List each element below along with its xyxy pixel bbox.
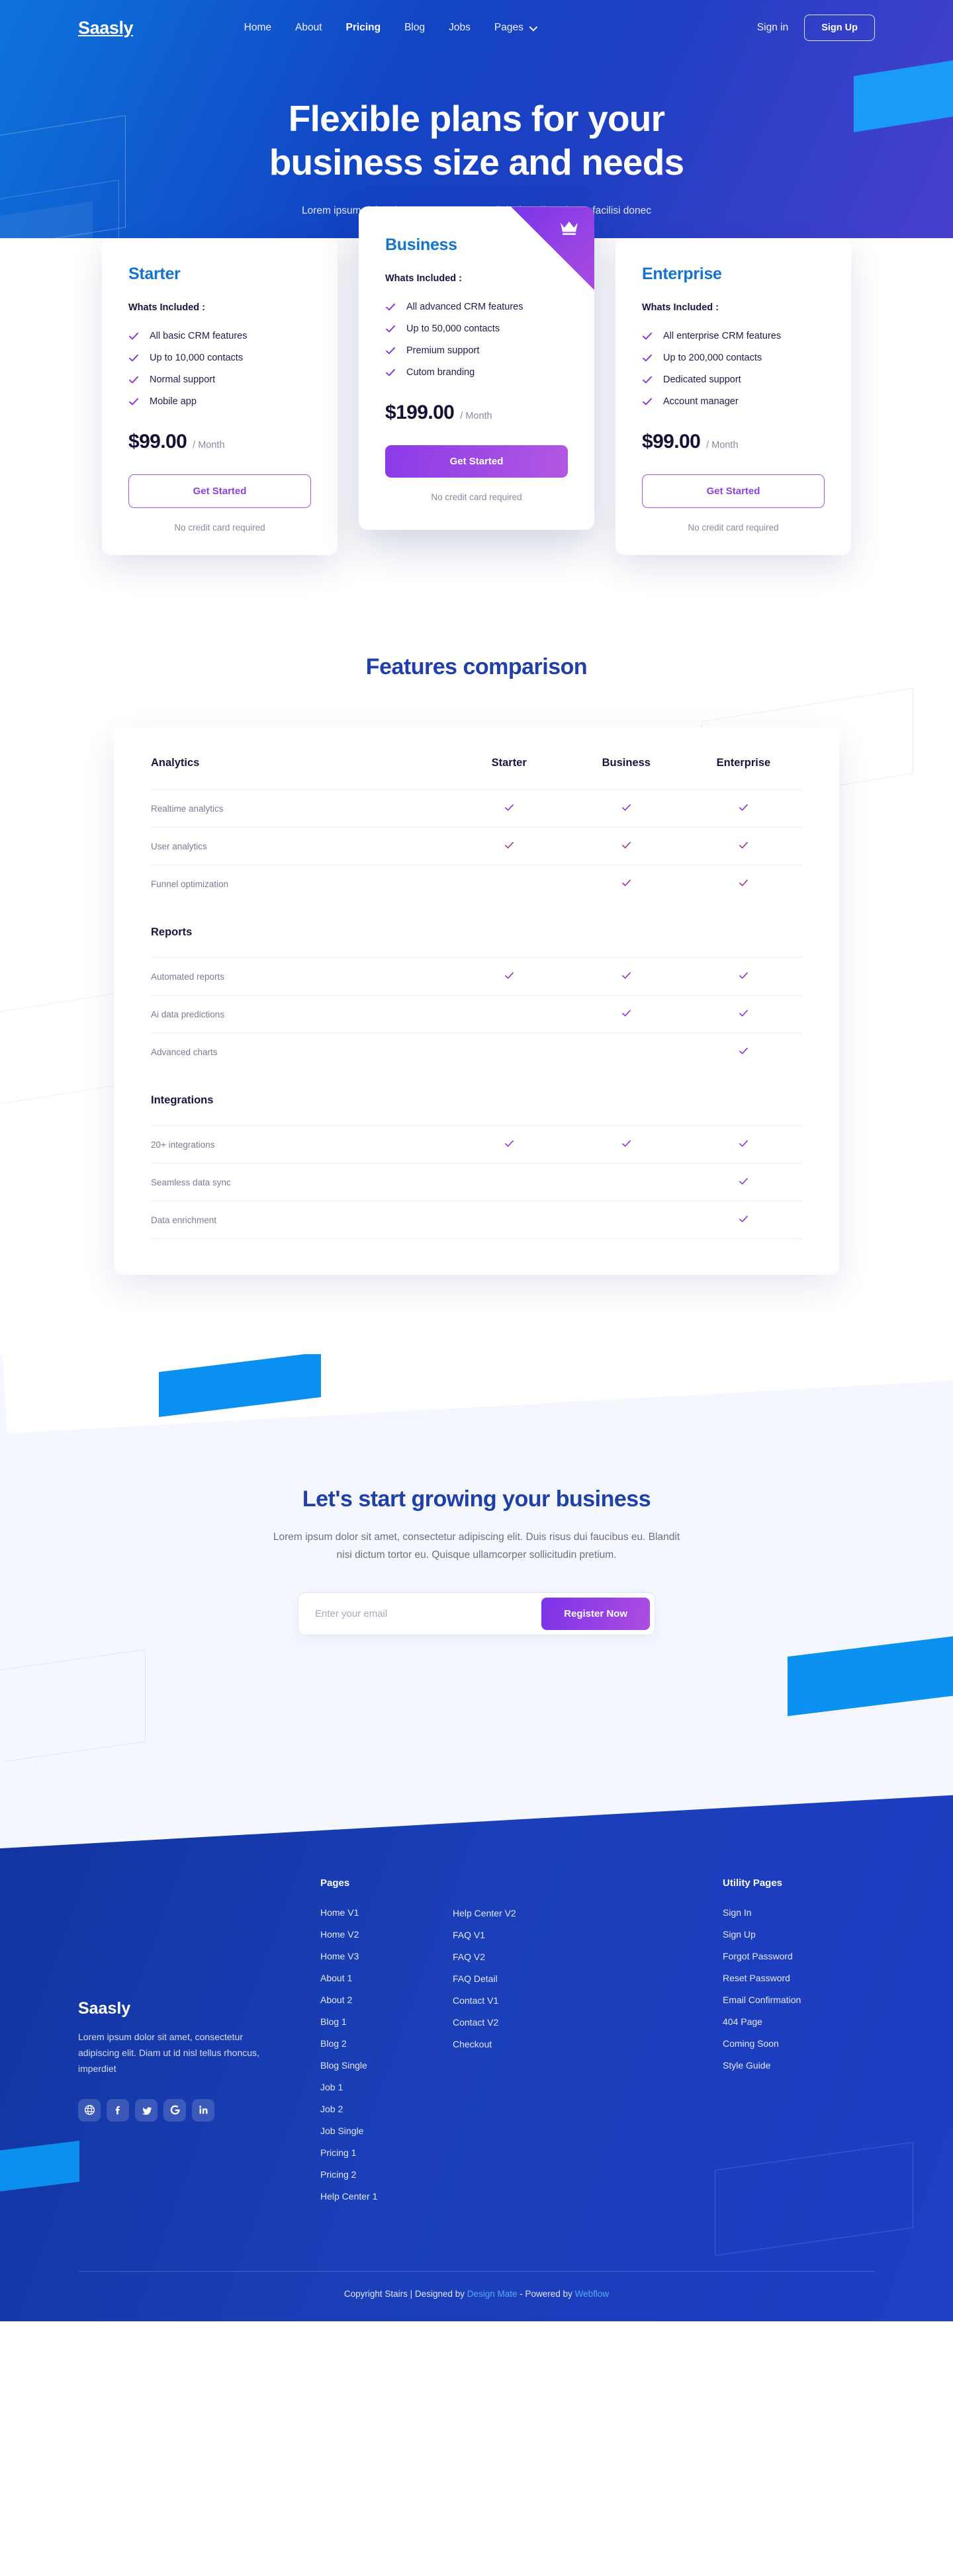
- footer-link[interactable]: Style Guide: [723, 2055, 875, 2077]
- footer-link[interactable]: Job 2: [320, 2098, 453, 2120]
- nav-item-about[interactable]: About: [295, 22, 322, 34]
- table-row: Advanced charts: [151, 1033, 802, 1071]
- list-item: Premium support: [385, 339, 568, 361]
- comparison-table-card: Analytics Starter Business Enterprise Re…: [114, 728, 839, 1275]
- list-item: Up to 10,000 contacts: [128, 347, 311, 368]
- check-icon: [621, 802, 631, 812]
- copyright-prefix: Copyright Stairs | Designed by: [344, 2289, 467, 2299]
- footer-link[interactable]: About 1: [320, 1967, 453, 1989]
- footer-link[interactable]: Job Single: [320, 2120, 453, 2142]
- footer-link[interactable]: Home V2: [320, 1924, 453, 1946]
- cell-business: [568, 1164, 685, 1201]
- cell-enterprise: [685, 996, 802, 1033]
- feature-name: Funnel optimization: [151, 865, 451, 903]
- footer-link[interactable]: Help Center V2: [453, 1903, 605, 1924]
- cell-starter: [451, 790, 568, 828]
- footer-link[interactable]: About 2: [320, 1989, 453, 2011]
- section-title-growth: Let's start growing your business: [0, 1486, 953, 1512]
- plan-feature-list: All basic CRM features Up to 10,000 cont…: [128, 325, 311, 412]
- comparison-table: Analytics Starter Business Enterprise Re…: [151, 757, 802, 1239]
- feature-label: Dedicated support: [663, 374, 741, 385]
- column-header-business: Business: [568, 757, 685, 790]
- cell-business: [568, 1126, 685, 1164]
- table-row: Ai data predictions: [151, 996, 802, 1033]
- check-icon: [642, 353, 653, 363]
- footer-link[interactable]: Pricing 2: [320, 2164, 453, 2186]
- globe-icon[interactable]: [78, 2099, 101, 2122]
- cell-enterprise: [685, 828, 802, 865]
- get-started-button[interactable]: Get Started: [128, 474, 311, 508]
- feature-name: Seamless data sync: [151, 1164, 451, 1201]
- group-label: Integrations: [151, 1070, 802, 1126]
- feature-name: Data enrichment: [151, 1201, 451, 1239]
- check-icon: [385, 323, 396, 334]
- feature-name: Advanced charts: [151, 1033, 451, 1071]
- cell-starter: [451, 996, 568, 1033]
- feature-label: All basic CRM features: [150, 331, 247, 341]
- footer-link[interactable]: Coming Soon: [723, 2033, 875, 2055]
- table-row: User analytics: [151, 828, 802, 865]
- check-icon: [642, 331, 653, 341]
- table-row: Realtime analytics: [151, 790, 802, 828]
- list-item: Normal support: [128, 368, 311, 390]
- plan-price: $99.00: [128, 431, 187, 453]
- footer-link[interactable]: Reset Password: [723, 1967, 875, 1989]
- register-now-button[interactable]: Register Now: [541, 1598, 650, 1630]
- google-icon[interactable]: [163, 2099, 186, 2122]
- included-label: Whats Included :: [642, 302, 825, 313]
- no-credit-card-note: No credit card required: [385, 492, 568, 502]
- footer-link[interactable]: FAQ V1: [453, 1924, 605, 1946]
- table-group-header-reports: Reports: [151, 902, 802, 958]
- check-icon: [739, 970, 749, 980]
- plan-name: Starter: [128, 265, 311, 284]
- check-icon: [642, 396, 653, 407]
- footer-column-pages-2: Help Center V2 FAQ V1 FAQ V2 FAQ Detail …: [453, 1873, 605, 2055]
- cell-business: [568, 1201, 685, 1239]
- sign-in-link[interactable]: Sign in: [757, 22, 788, 34]
- list-item: Up to 200,000 contacts: [642, 347, 825, 368]
- feature-label: Mobile app: [150, 396, 197, 407]
- chevron-down-icon: [529, 22, 537, 31]
- linkedin-icon[interactable]: [192, 2099, 214, 2122]
- growth-cta-content: Let's start growing your business Lorem …: [0, 1354, 953, 1760]
- pricing-page: Saasly Home About Pricing Blog Jobs Page…: [0, 0, 953, 2321]
- check-icon: [739, 1008, 749, 1018]
- included-label: Whats Included :: [128, 302, 311, 313]
- check-icon: [385, 345, 396, 356]
- plan-name: Enterprise: [642, 265, 825, 284]
- footer-link[interactable]: Contact V2: [453, 2012, 605, 2034]
- cell-business: [568, 1033, 685, 1071]
- plan-feature-list: All enterprise CRM features Up to 200,00…: [642, 325, 825, 412]
- facebook-icon[interactable]: [107, 2099, 129, 2122]
- check-icon: [128, 353, 139, 363]
- cell-enterprise: [685, 790, 802, 828]
- footer-link[interactable]: FAQ V2: [453, 1946, 605, 1968]
- pricing-card-enterprise: Enterprise Whats Included : All enterpri…: [615, 238, 851, 555]
- table-row: 20+ integrations: [151, 1126, 802, 1164]
- plan-price-row: $199.00 / Month: [385, 402, 568, 424]
- decorative-outline-shape: [0, 992, 126, 1119]
- feature-name: Realtime analytics: [151, 790, 451, 828]
- subscribe-form: Register Now: [298, 1592, 655, 1635]
- footer-link[interactable]: Sign Up: [723, 1924, 875, 1946]
- plan-feature-list: All advanced CRM features Up to 50,000 c…: [385, 296, 568, 383]
- feature-name: 20+ integrations: [151, 1126, 451, 1164]
- section-title-comparison: Features comparison: [0, 612, 953, 680]
- pricing-cards: Starter Whats Included : All basic CRM f…: [93, 238, 860, 612]
- cell-starter: [451, 1033, 568, 1071]
- platform-link[interactable]: Webflow: [575, 2289, 610, 2299]
- growth-cta-section: Let's start growing your business Lorem …: [0, 1354, 953, 1760]
- no-credit-card-note: No credit card required: [642, 523, 825, 533]
- footer-heading-pages: Pages: [320, 1877, 453, 1889]
- plan-price-row: $99.00 / Month: [128, 431, 311, 453]
- sign-up-button[interactable]: Sign Up: [804, 15, 875, 41]
- pricing-card-business: Business Whats Included : All advanced C…: [359, 206, 594, 530]
- check-icon: [128, 374, 139, 385]
- cell-starter: [451, 865, 568, 903]
- plan-price: $99.00: [642, 431, 700, 453]
- site-footer: Saasly Lorem ipsum dolor sit amet, conse…: [0, 1761, 953, 2321]
- check-icon: [739, 802, 749, 812]
- table-group-header-integrations: Integrations: [151, 1070, 802, 1126]
- cell-enterprise: [685, 1126, 802, 1164]
- plan-price-row: $99.00 / Month: [642, 431, 825, 453]
- footer-description: Lorem ipsum dolor sit amet, consectetur …: [78, 2029, 263, 2077]
- feature-label: Premium support: [406, 345, 479, 356]
- footer-link[interactable]: Blog Single: [320, 2055, 453, 2077]
- table-header-row: Analytics Starter Business Enterprise: [151, 757, 802, 790]
- check-icon: [385, 302, 396, 312]
- hero-title-line-2: business size and needs: [269, 142, 684, 183]
- list-item: Dedicated support: [642, 368, 825, 390]
- list-item: All enterprise CRM features: [642, 325, 825, 347]
- check-icon: [621, 1138, 631, 1148]
- nav-item-pages-label: Pages: [494, 22, 523, 34]
- column-header-starter: Starter: [451, 757, 568, 790]
- crown-icon: [559, 221, 579, 236]
- footer-link[interactable]: 404 Page: [723, 2011, 875, 2033]
- hero-title-line-1: Flexible plans for your: [289, 98, 664, 139]
- cell-business: [568, 996, 685, 1033]
- feature-label: Up to 10,000 contacts: [150, 353, 243, 363]
- feature-label: All enterprise CRM features: [663, 331, 781, 341]
- footer-link[interactable]: Pricing 1: [320, 2142, 453, 2164]
- nav-item-pages[interactable]: Pages: [494, 22, 535, 34]
- plan-price: $199.00: [385, 402, 454, 424]
- check-icon: [739, 1214, 749, 1224]
- footer-link[interactable]: Help Center 1: [320, 2186, 453, 2208]
- check-icon: [504, 802, 514, 812]
- copyright-bar: Copyright Stairs | Designed by Design Ma…: [0, 2272, 953, 2321]
- plan-price-period: / Month: [460, 411, 492, 421]
- cell-business: [568, 865, 685, 903]
- feature-label: Normal support: [150, 374, 215, 385]
- features-comparison-section: Features comparison Analytics Starter Bu…: [0, 612, 953, 1354]
- no-credit-card-note: No credit card required: [128, 523, 311, 533]
- feature-label: Account manager: [663, 396, 739, 407]
- check-icon: [642, 374, 653, 385]
- column-header-enterprise: Enterprise: [685, 757, 802, 790]
- pricing-card-starter: Starter Whats Included : All basic CRM f…: [102, 238, 338, 555]
- nav-item-jobs[interactable]: Jobs: [449, 22, 471, 34]
- check-icon: [621, 840, 631, 850]
- footer-link[interactable]: Forgot Password: [723, 1946, 875, 1967]
- nav-item-blog[interactable]: Blog: [404, 22, 425, 34]
- footer-link[interactable]: Blog 1: [320, 2011, 453, 2033]
- list-item: Account manager: [642, 390, 825, 412]
- check-icon: [385, 367, 396, 378]
- check-icon: [128, 331, 139, 341]
- cell-business: [568, 790, 685, 828]
- feature-label: Cutom branding: [406, 367, 475, 378]
- footer-brand-block: Saasly Lorem ipsum dolor sit amet, conse…: [78, 1873, 296, 2122]
- table-row: Funnel optimization: [151, 865, 802, 903]
- list-item: All advanced CRM features: [385, 296, 568, 318]
- footer-link[interactable]: Checkout: [453, 2034, 605, 2055]
- footer-link[interactable]: Home V3: [320, 1946, 453, 1967]
- cell-starter: [451, 1201, 568, 1239]
- social-links: [78, 2099, 296, 2122]
- check-icon: [739, 1176, 749, 1186]
- cell-enterprise: [685, 1201, 802, 1239]
- footer-link[interactable]: Email Confirmation: [723, 1989, 875, 2011]
- check-icon: [739, 1046, 749, 1056]
- feature-name: User analytics: [151, 828, 451, 865]
- plan-name: Business: [385, 236, 568, 255]
- check-icon: [621, 970, 631, 980]
- cell-business: [568, 828, 685, 865]
- footer-link[interactable]: Contact V1: [453, 1990, 605, 2012]
- footer-link[interactable]: Home V1: [320, 1902, 453, 1924]
- footer-logo: Saasly: [78, 1999, 296, 2018]
- footer-column-pages: Pages Home V1 Home V2 Home V3 About 1 Ab…: [320, 1873, 453, 2208]
- plan-price-period: / Month: [706, 440, 738, 451]
- brand-logo[interactable]: Saasly: [78, 18, 133, 38]
- check-icon: [621, 878, 631, 888]
- nav-actions: Sign in Sign Up: [757, 15, 875, 41]
- footer-link[interactable]: Blog 2: [320, 2033, 453, 2055]
- plan-price-period: / Month: [193, 440, 224, 451]
- nav-item-pricing[interactable]: Pricing: [346, 22, 381, 34]
- decorative-blue-bar: [0, 2141, 79, 2196]
- check-icon: [739, 878, 749, 888]
- cell-enterprise: [685, 1164, 802, 1201]
- cell-business: [568, 958, 685, 996]
- footer-link[interactable]: FAQ Detail: [453, 1968, 605, 1990]
- page-title: Flexible plans for your business size an…: [212, 97, 741, 184]
- table-row: Data enrichment: [151, 1201, 802, 1239]
- footer-link[interactable]: Sign In: [723, 1902, 875, 1924]
- feature-label: All advanced CRM features: [406, 302, 523, 312]
- group-label: Reports: [151, 902, 802, 958]
- top-navigation: Saasly Home About Pricing Blog Jobs Page…: [0, 0, 953, 56]
- cell-enterprise: [685, 1033, 802, 1071]
- check-icon: [739, 840, 749, 850]
- footer-heading-utility: Utility Pages: [723, 1877, 875, 1889]
- cell-enterprise: [685, 865, 802, 903]
- cell-starter: [451, 828, 568, 865]
- check-icon: [739, 1138, 749, 1148]
- list-item: Up to 50,000 contacts: [385, 318, 568, 339]
- column-header-group: Analytics: [151, 757, 451, 790]
- feature-name: Ai data predictions: [151, 996, 451, 1033]
- cell-enterprise: [685, 958, 802, 996]
- nav-item-home[interactable]: Home: [244, 22, 271, 34]
- list-item: Mobile app: [128, 390, 311, 412]
- cell-starter: [451, 1126, 568, 1164]
- table-row: Seamless data sync: [151, 1164, 802, 1201]
- check-icon: [504, 1138, 514, 1148]
- cell-starter: [451, 958, 568, 996]
- designer-link[interactable]: Design Mate: [467, 2289, 518, 2299]
- footer-link[interactable]: Job 1: [320, 2077, 453, 2098]
- twitter-icon[interactable]: [135, 2099, 158, 2122]
- feature-name: Automated reports: [151, 958, 451, 996]
- copyright-mid: - Powered by: [518, 2289, 575, 2299]
- check-icon: [128, 396, 139, 407]
- included-label: Whats Included :: [385, 273, 568, 284]
- check-icon: [621, 1008, 631, 1018]
- check-icon: [504, 970, 514, 980]
- cell-starter: [451, 1164, 568, 1201]
- footer-columns: Saasly Lorem ipsum dolor sit amet, conse…: [78, 1761, 875, 2208]
- feature-label: Up to 50,000 contacts: [406, 323, 500, 334]
- check-icon: [504, 840, 514, 850]
- get-started-button[interactable]: Get Started: [385, 445, 568, 478]
- pricing-cards-section: Starter Whats Included : All basic CRM f…: [0, 238, 953, 612]
- growth-cta-subtitle: Lorem ipsum dolor sit amet, consectetur …: [271, 1528, 682, 1564]
- feature-label: Up to 200,000 contacts: [663, 353, 762, 363]
- email-input[interactable]: [303, 1598, 541, 1629]
- footer-column-utility: Utility Pages Sign In Sign Up Forgot Pas…: [723, 1873, 875, 2077]
- table-row: Automated reports: [151, 958, 802, 996]
- list-item: All basic CRM features: [128, 325, 311, 347]
- get-started-button[interactable]: Get Started: [642, 474, 825, 508]
- nav-links: Home About Pricing Blog Jobs Pages: [244, 22, 535, 34]
- list-item: Cutom branding: [385, 361, 568, 383]
